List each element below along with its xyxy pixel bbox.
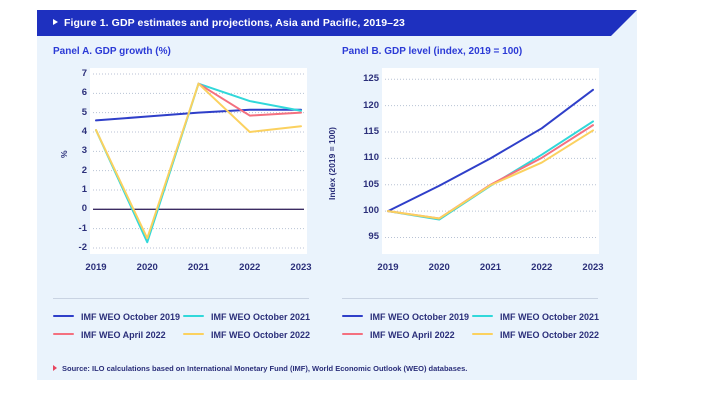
panel-b-y-axis-label: Index (2019 = 100) [327, 127, 337, 200]
panel-a-plot-area [90, 68, 307, 254]
panel-b-title: Panel B. GDP level (index, 2019 = 100) [342, 46, 522, 57]
panel-a-title: Panel A. GDP growth (%) [53, 46, 171, 57]
x-tick-label: 2022 [226, 262, 274, 273]
legend-color-swatch [53, 333, 74, 336]
y-tick-label: 7 [47, 68, 87, 79]
legend-item[interactable]: IMF WEO October 2022 [472, 326, 599, 344]
legend-label: IMF WEO October 2021 [211, 312, 310, 322]
legend-item[interactable]: IMF WEO October 2021 [472, 308, 599, 326]
y-tick-label: 120 [339, 100, 379, 111]
figure-title-text: Figure 1. GDP estimates and projections,… [64, 17, 405, 29]
series-line [96, 84, 301, 239]
y-tick-label: 110 [339, 152, 379, 163]
x-tick-label: 2023 [569, 262, 617, 273]
legend-color-swatch [472, 315, 493, 318]
x-tick-label: 2019 [72, 262, 120, 273]
x-tick-label: 2020 [123, 262, 171, 273]
y-tick-label: -1 [47, 223, 87, 234]
panel-b-legend-divider [342, 298, 598, 299]
x-tick-label: 2021 [467, 262, 515, 273]
panel-a-chart [90, 68, 307, 254]
figure-container: Figure 1. GDP estimates and projections,… [37, 10, 637, 380]
legend-color-swatch [183, 315, 204, 318]
y-tick-label: 5 [47, 107, 87, 118]
legend-color-swatch [472, 333, 493, 336]
x-tick-label: 2020 [415, 262, 463, 273]
legend-label: IMF WEO April 2022 [81, 330, 166, 340]
y-tick-label: 125 [339, 73, 379, 84]
x-tick-label: 2022 [518, 262, 566, 273]
y-tick-label: 115 [339, 126, 379, 137]
legend-label: IMF WEO October 2019 [370, 312, 469, 322]
legend-label: IMF WEO October 2022 [211, 330, 310, 340]
y-tick-label: 105 [339, 179, 379, 190]
y-tick-label: 6 [47, 87, 87, 98]
legend-item[interactable]: IMF WEO October 2019 [342, 308, 469, 326]
y-tick-label: 100 [339, 205, 379, 216]
series-line [388, 121, 593, 219]
legend-item[interactable]: IMF WEO October 2021 [183, 308, 310, 326]
panel-a-legend-divider [53, 298, 309, 299]
figure-header: Figure 1. GDP estimates and projections,… [37, 10, 637, 36]
source-note: Source: ILO calculations based on Intern… [53, 364, 467, 373]
legend-label: IMF WEO April 2022 [370, 330, 455, 340]
y-tick-label: 95 [339, 231, 379, 242]
legend-label: IMF WEO October 2022 [500, 330, 599, 340]
legend-item[interactable]: IMF WEO April 2022 [342, 326, 455, 344]
panel-b-plot-area [382, 68, 599, 254]
x-tick-label: 2019 [364, 262, 412, 273]
x-tick-label: 2021 [175, 262, 223, 273]
y-tick-label: 4 [47, 126, 87, 137]
legend-item[interactable]: IMF WEO October 2022 [183, 326, 310, 344]
triangle-right-icon [53, 365, 57, 371]
figure-title: Figure 1. GDP estimates and projections,… [53, 10, 405, 36]
legend-item[interactable]: IMF WEO October 2019 [53, 308, 180, 326]
y-tick-label: 1 [47, 184, 87, 195]
y-tick-label: -2 [47, 242, 87, 253]
legend-color-swatch [342, 315, 363, 318]
triangle-right-icon [53, 19, 58, 25]
y-tick-label: 3 [47, 145, 87, 156]
legend-label: IMF WEO October 2021 [500, 312, 599, 322]
y-tick-label: 0 [47, 203, 87, 214]
legend-label: IMF WEO October 2019 [81, 312, 180, 322]
source-note-text: Source: ILO calculations based on Intern… [62, 364, 467, 373]
legend-color-swatch [53, 315, 74, 318]
legend-item[interactable]: IMF WEO April 2022 [53, 326, 166, 344]
legend-color-swatch [183, 333, 204, 336]
panel-b-chart [382, 68, 599, 254]
x-tick-label: 2023 [277, 262, 325, 273]
legend-color-swatch [342, 333, 363, 336]
series-line [96, 84, 301, 243]
y-tick-label: 2 [47, 165, 87, 176]
series-line [388, 125, 593, 218]
